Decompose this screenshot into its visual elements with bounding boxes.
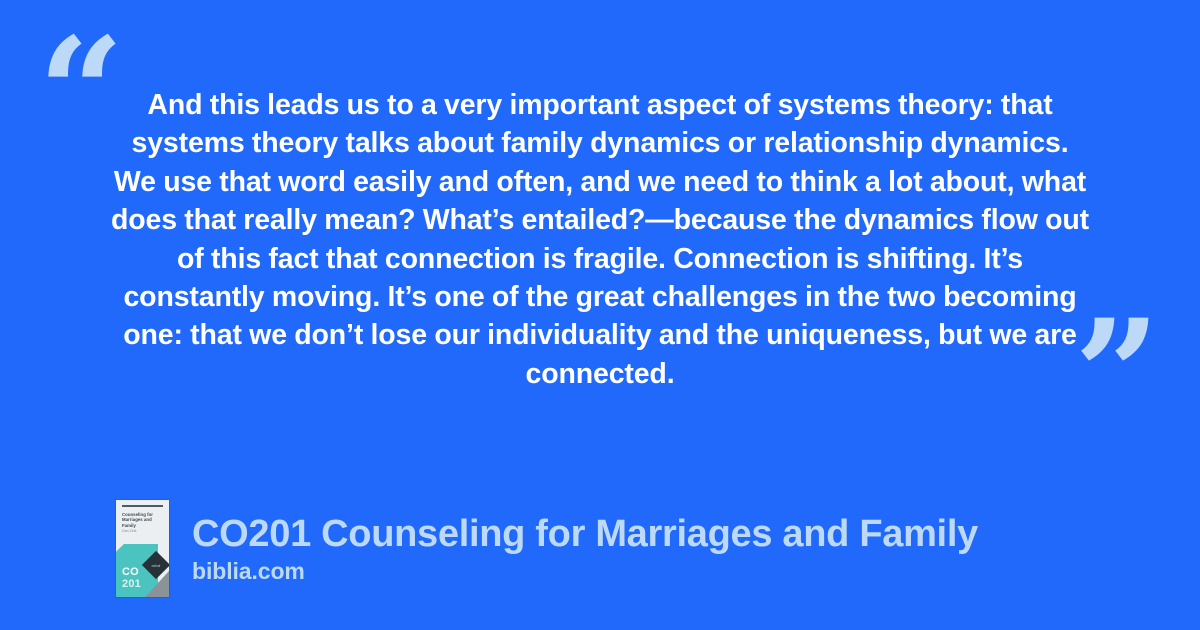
- course-title: CO201 Counseling for Marriages and Famil…: [192, 512, 978, 556]
- cover-title-text: Counseling for Marriages and Family: [122, 512, 164, 528]
- quote-block: And this leads us to a very important as…: [108, 86, 1092, 393]
- quote-text: And this leads us to a very important as…: [108, 86, 1092, 393]
- book-cover-thumbnail: Counseling for Marriages and Family Dan …: [116, 500, 169, 597]
- footer-text-group: CO201 Counseling for Marriages and Famil…: [192, 512, 978, 585]
- cover-author-text: Dan Zink: [122, 529, 164, 533]
- site-url[interactable]: biblia.com: [192, 558, 978, 585]
- quote-card: “ And this leads us to a very important …: [0, 0, 1200, 630]
- closing-quote-icon: ”: [1074, 300, 1160, 450]
- cover-rule: [122, 505, 163, 507]
- cover-diamond-logo-label: mbd: [146, 555, 166, 575]
- cover-course-code: CO 201: [122, 567, 141, 590]
- cover-diamond-logo-icon: mbd: [142, 551, 169, 579]
- cover-course-code-line1: CO: [122, 567, 141, 579]
- footer: Counseling for Marriages and Family Dan …: [116, 500, 978, 597]
- cover-course-code-line2: 201: [122, 579, 141, 591]
